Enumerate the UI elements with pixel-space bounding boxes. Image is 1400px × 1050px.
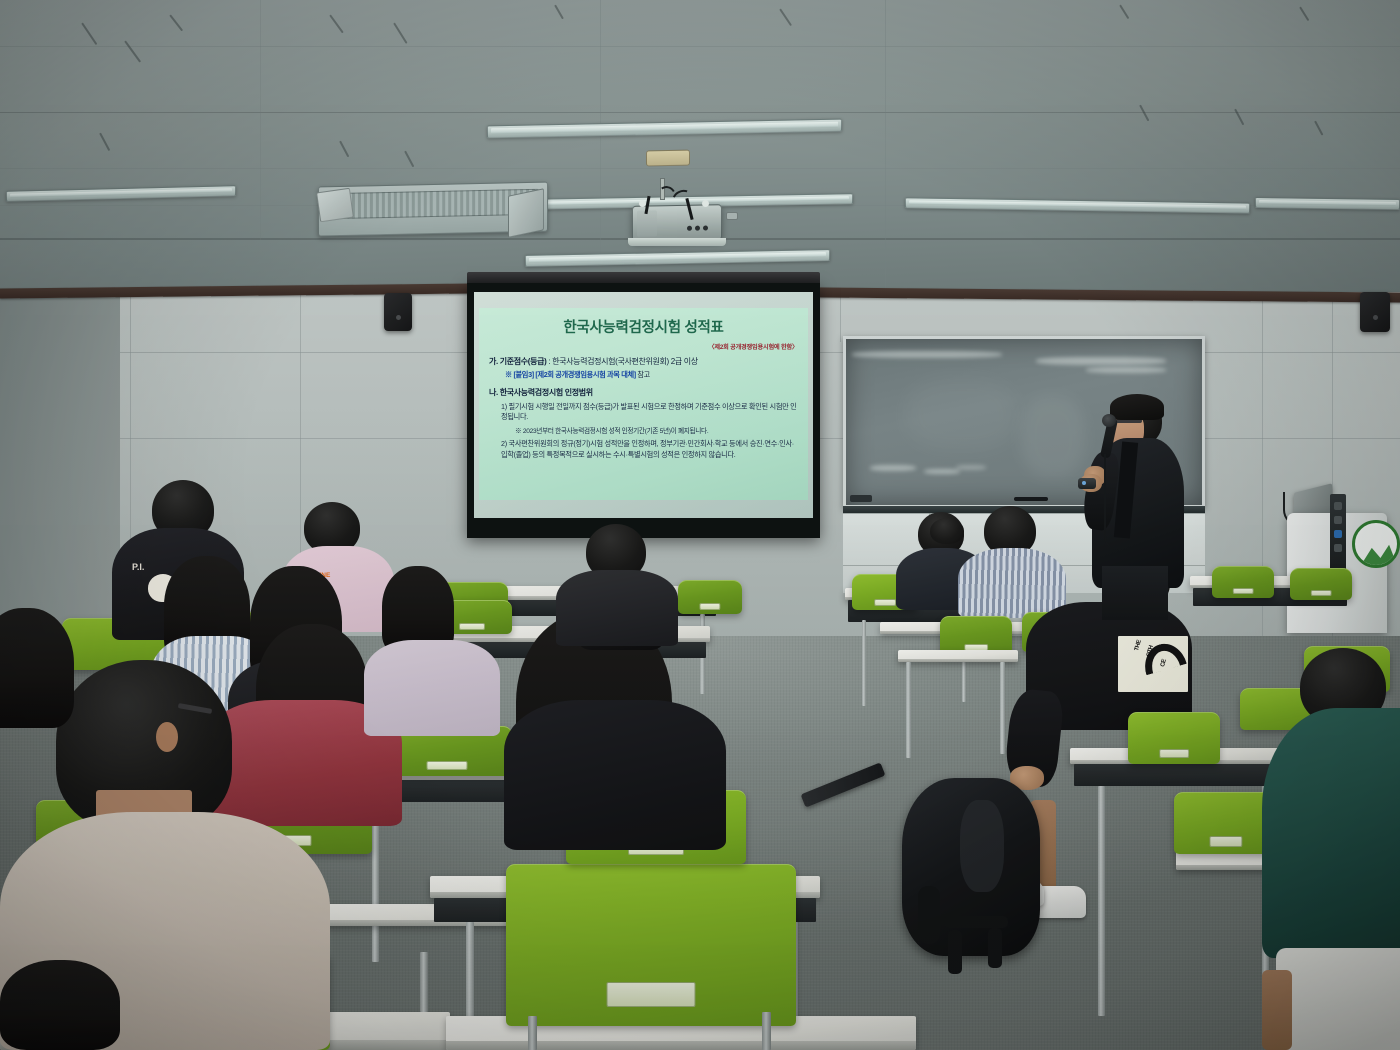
vent-corner-plate (316, 188, 354, 222)
desk (898, 650, 1018, 662)
chair-leg (420, 952, 428, 1012)
backpack[interactable] (902, 778, 1040, 956)
projector-side-arm (726, 212, 738, 220)
microphone-head-icon (1102, 414, 1116, 427)
classroom-photo-scene: 한국사능력검정시험 성적표 〈제2회 공개경쟁임용시험에 한함〉 가. 기준점수… (0, 0, 1400, 1050)
side-wall-left (0, 292, 120, 652)
ceiling-light-fixture (1255, 197, 1400, 210)
presenter-trousers (1102, 566, 1168, 620)
tee-print-text: P.I. (132, 562, 162, 572)
smoke-detector (646, 150, 690, 167)
ceiling (0, 0, 1400, 300)
vent-side-flap (508, 188, 544, 238)
slide-item-1: 1) 필기시험 시행일 전일까지 점수(등급)가 발표된 시험으로 한정하며 기… (489, 402, 798, 422)
clicker-led-icon (1082, 481, 1086, 485)
ceiling-light-fixture (525, 249, 830, 267)
presentation-slide: 한국사능력검정시험 성적표 〈제2회 공개경쟁임용시험에 한함〉 가. 기준점수… (479, 308, 808, 500)
chair-leg (528, 1016, 537, 1050)
slide-bullet-highlight: [붙임3] [제2회 공개경쟁임용시험 과목 대체] (514, 370, 636, 379)
desk-leg (1098, 786, 1105, 1016)
slide-note: 〈제2회 공개경쟁임용시험에 한함〉 (489, 342, 798, 351)
desk-leg (906, 662, 911, 758)
projector-ir-emitter (702, 200, 709, 207)
slide-bullet-marker: ※ (505, 370, 512, 379)
presentation-clicker[interactable] (1078, 478, 1096, 489)
slide-section-b-label: 나. 한국사능력검정시험 인정범위 (489, 387, 798, 398)
slide-item-1-sub-marker: ※ (515, 428, 521, 435)
student-hair (0, 608, 74, 728)
projector-trim (628, 238, 726, 246)
ceiling-light-fixture (905, 197, 1250, 213)
desk-leg (862, 620, 866, 706)
slide-bullet-plain: 참고 (636, 370, 650, 379)
northface-arc-icon (1139, 639, 1186, 675)
slide-section-a: 가. 기준점수(등급) : 한국사능력검정시험(국사편찬위원회) 2급 이상 (489, 356, 798, 367)
student-shorts (1276, 948, 1400, 1050)
desk-front-panel (1074, 764, 1284, 786)
desk-leg (1000, 662, 1005, 754)
student-torso-teal (1262, 708, 1400, 958)
slide-item-1-num: 1) (501, 402, 507, 411)
slide-section-a-text: : 한국사능력검정시험(국사편찬위원회) 2급 이상 (546, 357, 697, 366)
ceiling-light-fixture (6, 185, 236, 202)
desk-leg (372, 802, 379, 962)
chair[interactable] (506, 864, 796, 1026)
slide-section-a-bullet: ※ [붙임3] [제2회 공개경쟁임용시험 과목 대체] 참고 (489, 370, 798, 380)
chair[interactable] (1212, 566, 1274, 598)
student-head (930, 518, 964, 544)
podium-control-panel[interactable] (1330, 494, 1346, 572)
slide-title: 한국사능력검정시험 성적표 (489, 316, 798, 337)
student-hair (0, 960, 120, 1050)
microphone-cable (1104, 454, 1118, 550)
chair[interactable] (1128, 712, 1220, 764)
slide-item-2: 2) 국사편찬위원회의 정규(정기)시험 성적만을 인정하며, 정부기관·민간회… (489, 439, 798, 459)
slide-section-a-label: 가. 기준점수(등급) (489, 357, 546, 366)
student-torso (556, 570, 678, 646)
projector-ir-emitter (639, 200, 646, 207)
student-leg (1262, 970, 1292, 1050)
slide-item-2-num: 2) (501, 439, 507, 448)
student-torso (958, 548, 1066, 618)
chair[interactable] (678, 580, 742, 614)
northface-text-1: THE (1134, 640, 1143, 652)
slide-item-1-sub: ※ 2023년부터 한국사능력검정시험 성적 인정기간(기존 5년)이 폐지됩니… (489, 425, 798, 435)
chair-leg (762, 1012, 771, 1050)
presenter-hair (1110, 394, 1164, 420)
whiteboard-marker (1014, 497, 1048, 501)
ceiling-light-fixture (487, 119, 842, 139)
chair[interactable] (1290, 568, 1352, 600)
northface-logo-box: THE OTH CE (1118, 636, 1188, 692)
slide-item-1-sub-text: 2023년부터 한국사능력검정시험 성적 인정기간(기존 5년)이 폐지됩니다. (523, 428, 709, 435)
student-torso-lavender (364, 640, 500, 736)
university-emblem-icon (1352, 520, 1400, 568)
whiteboard-eraser (850, 495, 872, 502)
wall-speaker-left (384, 293, 412, 331)
slide-item-2-text: 국사편찬위원회의 정규(정기)시험 성적만을 인정하며, 정부기관·민간회사·학… (501, 439, 794, 458)
ear (156, 722, 178, 752)
slide-item-1-text: 필기시험 시행일 전일까지 점수(등급)가 발표된 시험으로 한정하며 기준점수… (501, 402, 796, 421)
student-torso-cap (504, 700, 726, 850)
wall-speaker-right (1360, 292, 1390, 332)
